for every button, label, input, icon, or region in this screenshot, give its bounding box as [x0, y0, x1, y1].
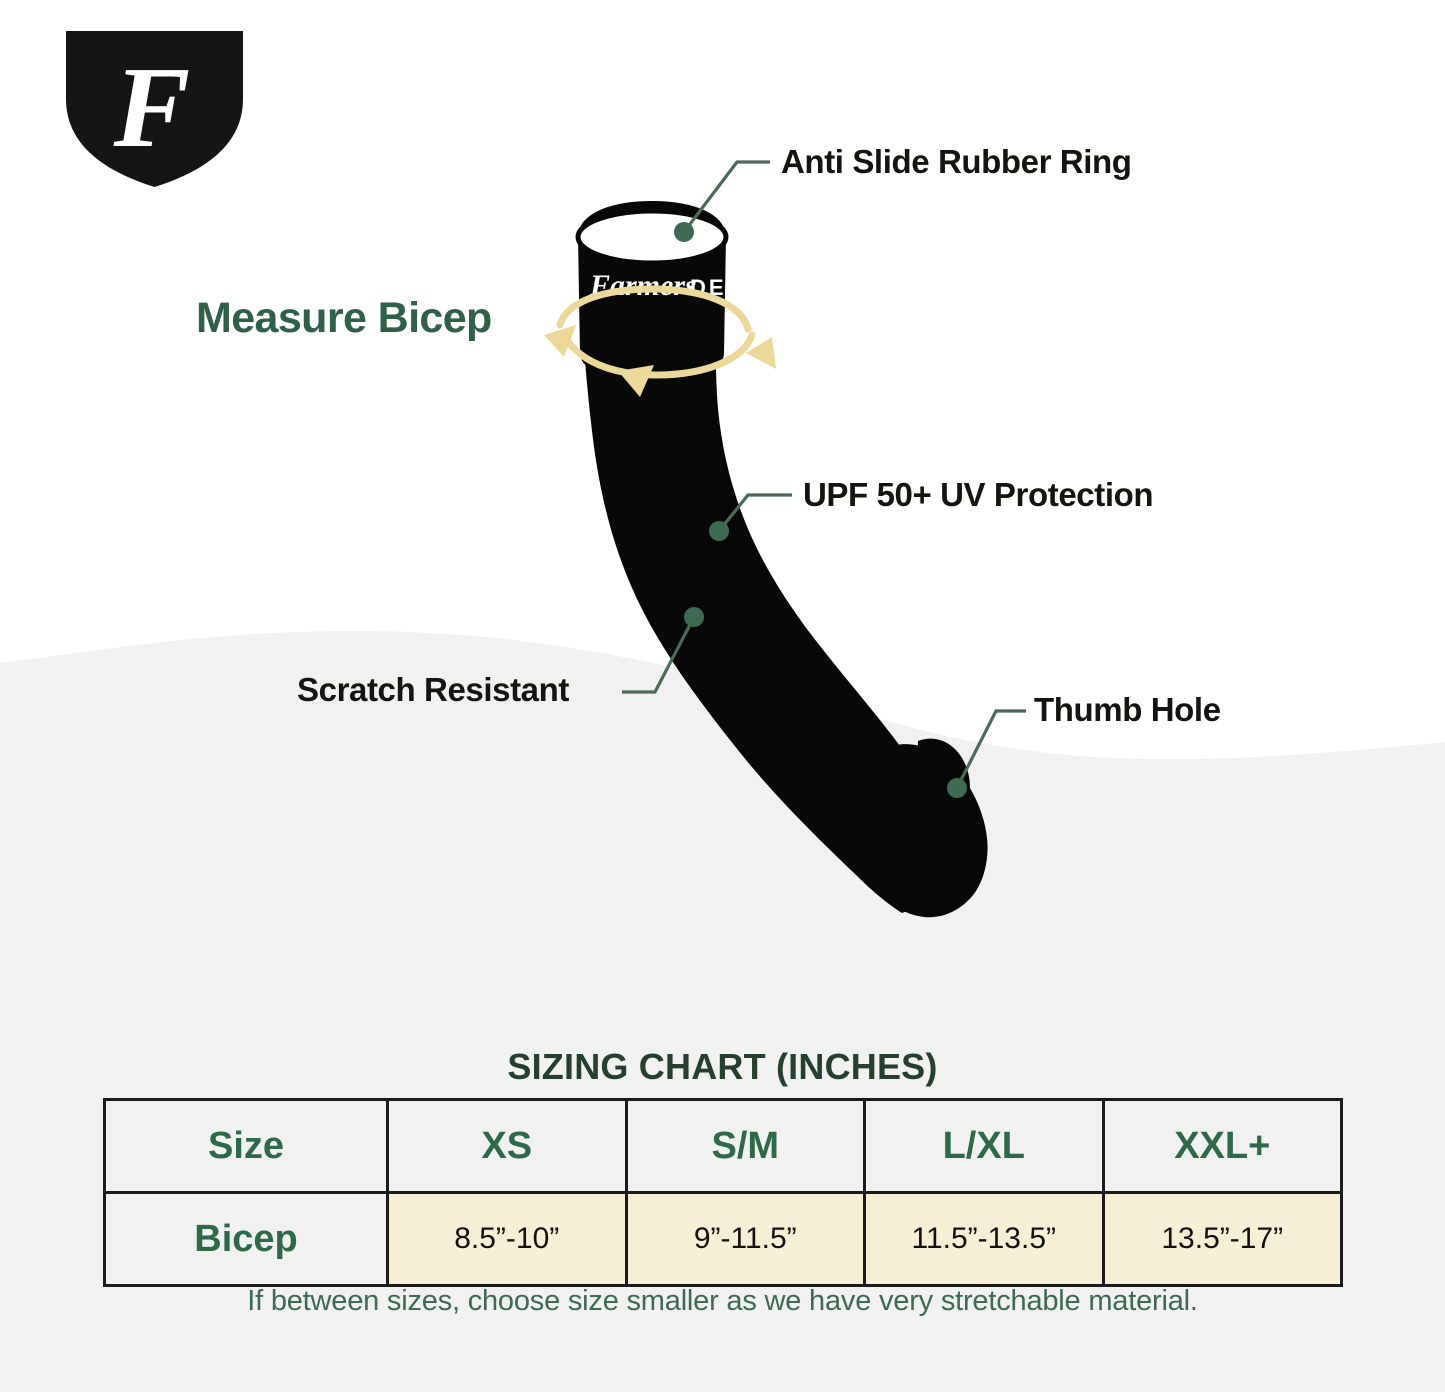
sleeve-silhouette: [578, 201, 988, 917]
table-row-label-bicep: Bicep: [105, 1193, 388, 1286]
infographic-root: F Farmers DEFENSE: [0, 0, 1445, 1392]
sizing-chart-note: If between sizes, choose size smaller as…: [0, 1285, 1445, 1318]
table-header-xxl: XXL+: [1103, 1100, 1342, 1193]
callout-label-upf-protection: UPF 50+ UV Protection: [803, 476, 1153, 514]
table-cell-bicep-xxl: 13.5”-17”: [1103, 1193, 1342, 1286]
arm-sleeve-illustration: Farmers DEFENSE: [520, 185, 1040, 945]
table-header-xs: XS: [388, 1100, 627, 1193]
table-header-lxl: L/XL: [865, 1100, 1104, 1193]
shield-logo: F: [52, 18, 257, 198]
callout-label-thumb-hole: Thumb Hole: [1034, 691, 1221, 729]
table-cell-bicep-lxl: 11.5”-13.5”: [865, 1193, 1104, 1286]
measure-bicep-label: Measure Bicep: [196, 294, 492, 343]
sizing-chart-title: SIZING CHART (INCHES): [0, 1046, 1445, 1088]
sizing-chart-table: Size XS S/M L/XL XXL+ Bicep 8.5”-10” 9”-…: [103, 1098, 1343, 1287]
table-header-size: Size: [105, 1100, 388, 1193]
callout-label-anti-slide-rubber-ring: Anti Slide Rubber Ring: [781, 143, 1132, 181]
table-header-sm: S/M: [626, 1100, 865, 1193]
table-row-sizes: Size XS S/M L/XL XXL+: [105, 1100, 1342, 1193]
logo-letter: F: [113, 44, 191, 171]
table-cell-bicep-sm: 9”-11.5”: [626, 1193, 865, 1286]
callout-label-scratch-resistant: Scratch Resistant: [297, 671, 569, 709]
table-cell-bicep-xs: 8.5”-10”: [388, 1193, 627, 1286]
table-row-bicep: Bicep 8.5”-10” 9”-11.5” 11.5”-13.5” 13.5…: [105, 1193, 1342, 1286]
